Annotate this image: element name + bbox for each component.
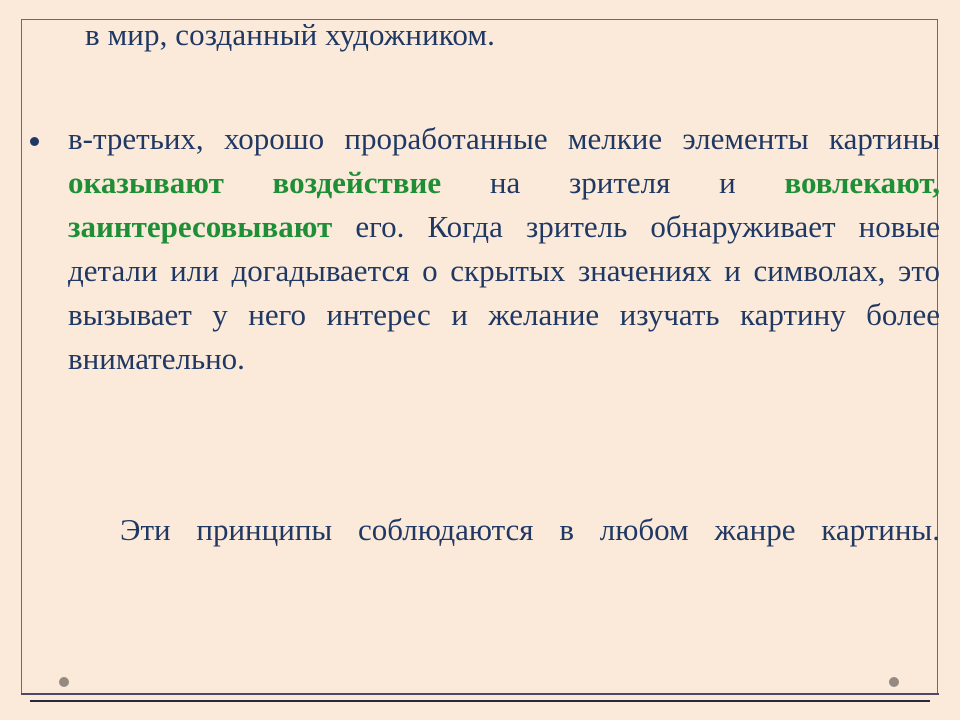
- decorative-dot-left-icon: [59, 677, 69, 687]
- bullet-dot-icon: [30, 137, 39, 146]
- bullet-text-segment-1: в-третьих, хорошо проработанные мелкие э…: [68, 121, 940, 156]
- bullet-list-item: в-третьих, хорошо проработанные мелкие э…: [14, 117, 940, 425]
- footer-rule-upper: [21, 693, 939, 695]
- slide-canvas: в мир, созданный художником. в-третьих, …: [0, 0, 960, 720]
- opening-line: в мир, созданный художником.: [28, 13, 940, 57]
- bullet-text-segment-2: на зрителя и: [441, 165, 784, 200]
- closing-paragraph: Эти принципы соблюдаются в любом жанре к…: [28, 508, 940, 596]
- bullet-paragraph: в-третьих, хорошо проработанные мелкие э…: [68, 117, 940, 425]
- decorative-dot-right-icon: [889, 677, 899, 687]
- footer-rule-lower: [30, 700, 930, 702]
- highlight-phrase-1: оказывают воздействие: [68, 165, 441, 200]
